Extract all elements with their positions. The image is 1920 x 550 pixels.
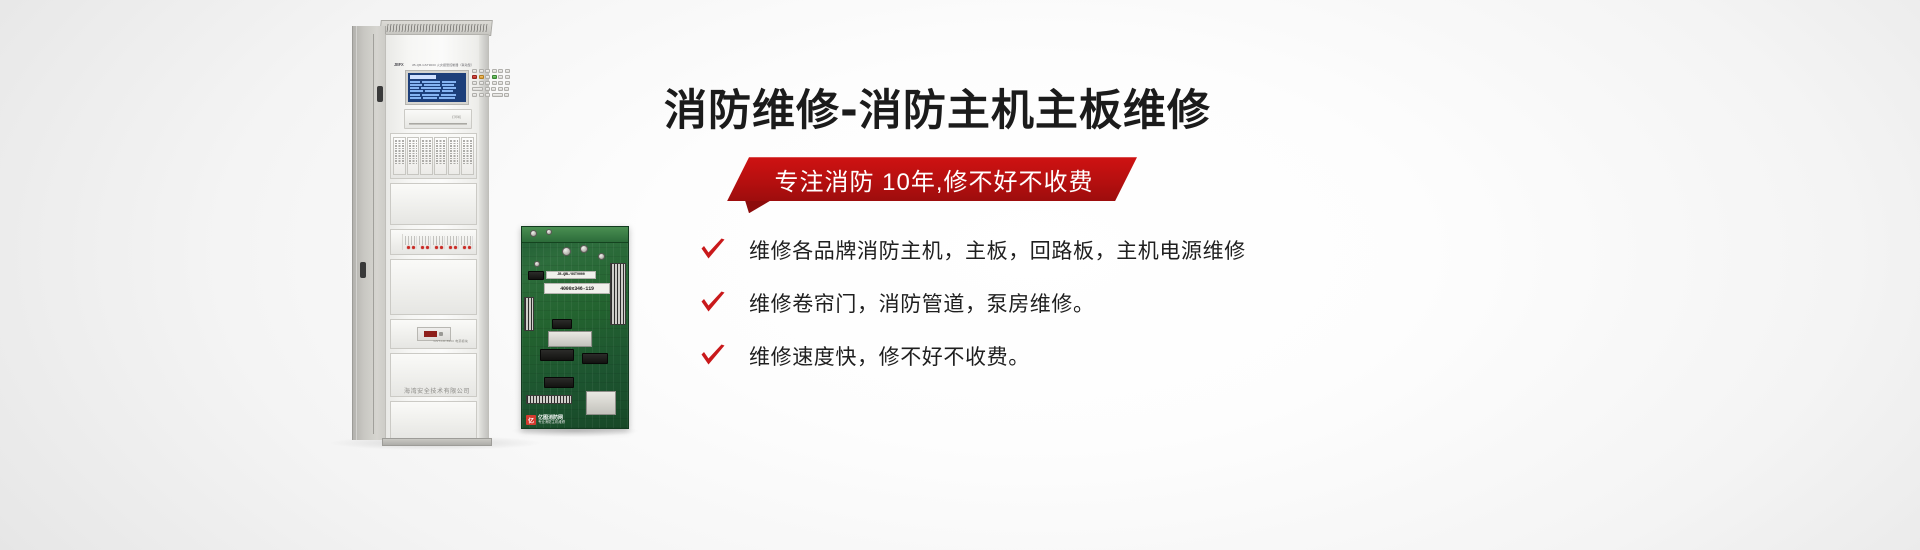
feature-list: 维修各品牌消防主机，主板，回路板，主机电源维修 维修卷帘门，消防管道，泵房维修。… (700, 235, 1844, 371)
list-item: 维修各品牌消防主机，主板，回路板，主机电源维修 (700, 235, 1844, 265)
list-item: 维修速度快，修不好不收费。 (700, 341, 1844, 371)
keypad-key[interactable] (472, 69, 477, 73)
cabinet-base (382, 438, 492, 446)
keypad-key[interactable] (491, 87, 496, 91)
cabinet-printer-module: 打印机 (404, 109, 472, 129)
led-group (405, 236, 417, 249)
led-indicator (426, 246, 429, 249)
pcb-capacitor (546, 229, 552, 235)
banner-content: 消防维修-消防主机主板维修 专注消防 10年,修不好不收费 维修各品牌消防主机，… (664, 88, 1844, 371)
keypad-key[interactable] (485, 81, 490, 85)
led-indicator (435, 246, 438, 249)
keypad-key[interactable] (492, 81, 497, 85)
led-indicator (407, 246, 410, 249)
pcb-ic-chip (544, 377, 574, 388)
pcb-ic-chip (528, 271, 544, 280)
pcb-capacitor (530, 230, 537, 237)
list-item: 维修卷帘门，消防管道，泵房维修。 (700, 288, 1844, 318)
keypad-key[interactable] (485, 69, 490, 73)
check-icon (700, 238, 726, 262)
keypad-row[interactable] (472, 87, 516, 91)
pcb-ic-chip (582, 353, 608, 364)
cabinet-zone-modules (390, 133, 477, 179)
pcb-terminal-block (526, 395, 572, 404)
zone-module (461, 137, 474, 175)
pcb-top-connector-strip (522, 227, 628, 243)
zone-module (420, 137, 433, 175)
keypad-key[interactable] (479, 69, 484, 73)
keypad-key[interactable] (504, 93, 509, 97)
ribbon-tail (745, 200, 771, 213)
led-strip-logo (394, 234, 403, 250)
keypad-fault-key[interactable] (479, 75, 484, 79)
led-indicator (449, 246, 452, 249)
keypad-key[interactable] (498, 75, 503, 79)
keypad-key[interactable] (472, 81, 477, 85)
led-group (461, 236, 473, 249)
zone-module (448, 137, 461, 175)
watermark-line-2: 专业消防主机维修 (538, 421, 565, 424)
keypad-enter-key[interactable] (472, 87, 483, 91)
page-title: 消防维修-消防主机主板维修 (664, 88, 1844, 135)
pcb-capacitor (562, 247, 571, 256)
zone-module (407, 137, 420, 175)
keypad-key[interactable] (485, 75, 490, 79)
lcd-title-bar (410, 75, 436, 79)
pcb-socket-module (548, 331, 592, 347)
cabinet-brand-row: JBFX JB-QB-GST9000 火灾报警控制器（联动型） (394, 61, 474, 68)
list-item-label: 维修卷帘门，消防管道，泵房维修。 (749, 288, 1095, 318)
led-indicator (463, 246, 466, 249)
keypad-key[interactable] (485, 87, 490, 91)
list-item-label: 维修速度快，修不好不收费。 (749, 341, 1030, 371)
keypad-key[interactable] (485, 93, 490, 97)
led-indicator (468, 246, 471, 249)
fire-panel-main-board: 4000x346-119 JB-QBL/GST9000 亿 亿图消防网 专业消防… (521, 226, 629, 429)
keypad-row[interactable] (472, 81, 516, 85)
cabinet-lcd-screen (406, 71, 468, 104)
lcd-rows (410, 81, 464, 99)
led-group (447, 236, 459, 249)
keypad-alarm-key[interactable] (472, 75, 477, 79)
cabinet-side-door (352, 26, 386, 440)
power-module-label: GST-LD-8300 电源模块 (433, 339, 468, 343)
keypad-key[interactable] (505, 75, 510, 79)
cabinet-manufacturer-text: 海湾安全技术有限公司 (385, 386, 489, 395)
printer-paper-slot (409, 123, 467, 125)
led-group (433, 236, 445, 249)
cabinet-power-module: GST-LD-8300 电源模块 (390, 319, 477, 349)
cabinet-blank-panel (390, 183, 477, 225)
led-group (419, 236, 431, 249)
keypad-row[interactable] (472, 75, 516, 79)
led-indicator (412, 246, 415, 249)
pcb-ic-chip (552, 319, 572, 329)
meter-digits (424, 331, 437, 337)
cabinet-front-face: JBFX JB-QB-GST9000 火灾报警控制器（联动型） (385, 34, 489, 442)
cabinet-led-indicator-strip (390, 229, 477, 255)
cabinet-model-label: JB-QB-GST9000 火灾报警控制器（联动型） (412, 63, 474, 67)
pcb-model-label: JB-QBL/GST9000 (546, 271, 596, 279)
keypad-key[interactable] (472, 93, 477, 97)
ribbon-label: 专注消防 10年,修不好不收费 (727, 157, 1137, 201)
keypad-key[interactable] (505, 81, 510, 85)
keypad-key[interactable] (498, 87, 503, 91)
cabinet-vent-slots (387, 24, 488, 32)
keypad-cancel-key[interactable] (492, 93, 503, 97)
led-indicator (440, 246, 443, 249)
slogan-ribbon: 专注消防 10年,修不好不收费 (727, 157, 1137, 201)
pcb-ic-chip (540, 349, 574, 361)
meter-button[interactable] (439, 332, 443, 336)
pcb-capacitor (580, 245, 588, 253)
pcb-pin-header (610, 263, 626, 325)
cabinet-blank-panel (390, 401, 477, 439)
cabinet-blank-panel (390, 259, 477, 315)
cabinet-keypad[interactable] (472, 69, 516, 107)
keypad-key[interactable] (492, 69, 497, 73)
pcb-capacitor (598, 253, 605, 260)
keypad-row[interactable] (472, 93, 516, 97)
printer-label: 打印机 (452, 115, 461, 119)
fire-alarm-control-cabinet: JBFX JB-QB-GST9000 火灾报警控制器（联动型） (352, 14, 512, 446)
keypad-key[interactable] (504, 87, 509, 91)
check-icon (700, 291, 726, 315)
list-item-label: 维修各品牌消防主机，主板，回路板，主机电源维修 (749, 235, 1246, 265)
pcb-eprom-module (586, 391, 616, 415)
zone-module (393, 137, 406, 175)
cabinet-brand-label: JBFX (394, 62, 403, 67)
keypad-key[interactable] (479, 81, 484, 85)
cabinet-door-seam (373, 34, 374, 434)
pcb-pin-header (524, 297, 534, 331)
zone-module (434, 137, 447, 175)
keypad-reset-key[interactable] (492, 75, 497, 79)
keypad-key[interactable] (498, 81, 503, 85)
promo-banner: JBFX JB-QB-GST9000 火灾报警控制器（联动型） (0, 0, 1920, 550)
watermark-logo-icon: 亿 (526, 415, 536, 425)
check-icon (700, 344, 726, 368)
cabinet-lock-icon (360, 262, 366, 278)
led-indicator (421, 246, 424, 249)
cabinet-lock2-icon (377, 86, 383, 102)
keypad-key[interactable] (479, 93, 484, 97)
pcb-watermark: 亿 亿图消防网 专业消防主机维修 (526, 415, 565, 425)
keypad-row[interactable] (472, 69, 516, 73)
keypad-key[interactable] (498, 69, 503, 73)
pcb-sticker-label: 4000x346-119 (544, 283, 610, 294)
led-indicator (454, 246, 457, 249)
pcb-capacitor (534, 261, 540, 267)
keypad-key[interactable] (505, 69, 510, 73)
